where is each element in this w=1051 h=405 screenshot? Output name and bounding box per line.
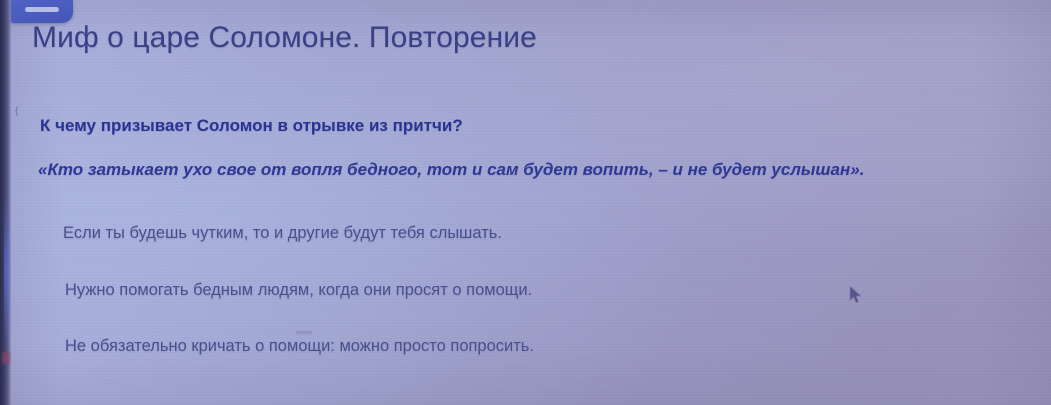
answer-option[interactable]: Не обязательно кричать о помощи: можно п… (65, 337, 534, 356)
presentation-slide-screen: Миф о царе Соломоне. Повторение ( К чему… (0, 0, 1051, 405)
answer-option[interactable]: Нужно помогать бедным людям, когда они п… (65, 281, 532, 300)
stray-artifact (296, 331, 312, 334)
answer-option[interactable]: Если ты будешь чутким, то и другие будут… (63, 224, 502, 243)
mouse-cursor-icon (849, 285, 865, 305)
proverb-quote-text: «Кто затыкает ухо свое от вопля бедного,… (38, 160, 864, 180)
slide-title: Миф о царе Соломоне. Повторение (32, 21, 537, 55)
slide-content: Миф о царе Соломоне. Повторение ( К чему… (0, 0, 1051, 405)
left-edge-speck: ( (15, 106, 20, 114)
question-text: К чему призывает Соломон в отрывке из пр… (40, 116, 463, 136)
